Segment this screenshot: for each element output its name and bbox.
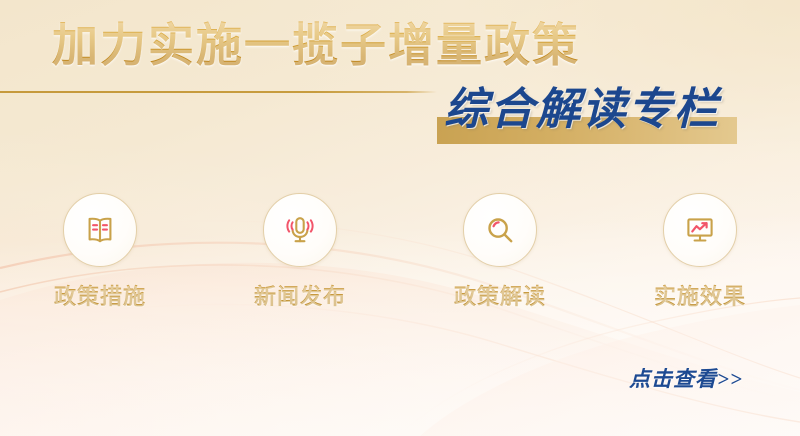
view-more-link[interactable]: 点击查看>>	[629, 366, 743, 392]
icon-circle-news-release[interactable]	[263, 193, 337, 267]
policy-column-banner: 加力实施一揽子增量政策 综合解读专栏	[0, 0, 800, 436]
nav-item-implement-effect[interactable]: 实施效果	[600, 193, 800, 321]
gold-divider-rule	[0, 91, 437, 93]
wave-line-3	[0, 304, 800, 422]
page-title-sub: 综合解读专栏	[444, 82, 720, 138]
icon-circle-implement-effect[interactable]	[663, 193, 737, 267]
nav-item-policy-reading[interactable]: 政策解读	[400, 193, 600, 321]
open-book-icon	[80, 210, 120, 250]
page-title-main: 加力实施一揽子增量政策	[52, 17, 580, 75]
nav-label-policy-reading: 政策解读	[454, 284, 546, 310]
icon-circle-policy-measures[interactable]	[63, 193, 137, 267]
nav-item-policy-measures[interactable]: 政策措施	[0, 193, 200, 321]
nav-label-news-release: 新闻发布	[254, 284, 346, 310]
wave-fill-right	[420, 305, 800, 436]
nav-item-news-release[interactable]: 新闻发布	[200, 193, 400, 321]
microphone-icon	[280, 210, 320, 250]
category-nav: 政策措施	[0, 193, 800, 321]
nav-label-policy-measures: 政策措施	[54, 284, 146, 310]
magnifier-highlight-arc	[494, 222, 499, 226]
chart-monitor-icon	[680, 210, 720, 250]
nav-label-implement-effect: 实施效果	[654, 284, 746, 310]
icon-circle-policy-reading[interactable]	[463, 193, 537, 267]
magnifier-icon	[480, 210, 520, 250]
